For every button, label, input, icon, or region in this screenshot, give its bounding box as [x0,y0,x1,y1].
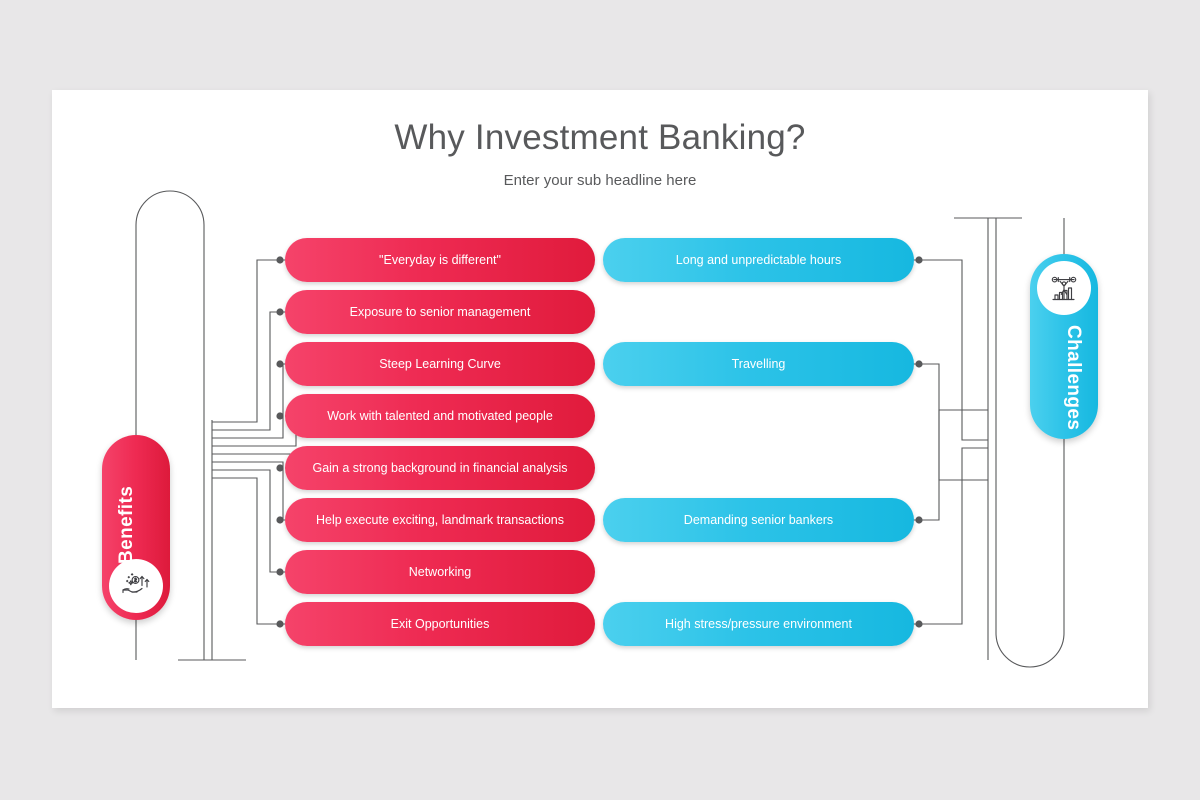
category-label-challenges: Challenges [1021,325,1107,393]
left-branch-3 [212,364,285,438]
connector-dot-left-1 [276,256,283,263]
benefit-pill[interactable]: Exit Opportunities [285,602,595,646]
challenge-pill[interactable]: Travelling [603,342,914,386]
connector-dot-left-8 [276,620,283,627]
connector-dot-right-3 [915,516,922,523]
benefit-pill[interactable]: Gain a strong background in financial an… [285,446,595,490]
right-branch-1 [914,260,988,440]
challenge-pill[interactable]: Demanding senior bankers [603,498,914,542]
benefit-pill[interactable]: "Everyday is different" [285,238,595,282]
benefit-pill[interactable]: Help execute exciting, landmark transact… [285,498,595,542]
page-subtitle: Enter your sub headline here [52,172,1148,189]
connector-dot-left-2 [276,308,283,315]
connector-dot-right-2 [915,360,922,367]
left-branch-5 [212,454,296,468]
left-branch-4 [212,416,296,446]
connector-dot-left-7 [276,568,283,575]
connector-dot-left-5 [276,464,283,471]
right-branch-2 [914,364,988,480]
connector-dot-right-4 [915,620,922,627]
page-title: Why Investment Banking? [52,118,1148,158]
left-branch-6 [212,462,285,520]
connector-dot-left-3 [276,360,283,367]
slide-card: Why Investment Banking? Enter your sub h… [52,90,1148,708]
connector-dot-left-6 [276,516,283,523]
benefit-pill[interactable]: Networking [285,550,595,594]
connector-dot-right-1 [915,256,922,263]
left-branch-1 [212,260,285,422]
challenge-pill[interactable]: Long and unpredictable hours [603,238,914,282]
challenge-pill[interactable]: High stress/pressure environment [603,602,914,646]
left-branch-8 [212,478,285,624]
connector-dot-left-4 [276,412,283,419]
left-branch-7 [212,470,285,572]
weightlifter-on-bar-chart-icon [1037,261,1091,315]
right-branch-4 [914,448,988,624]
category-label-benefits: Benefits [93,496,179,564]
benefit-pill[interactable]: Steep Learning Curve [285,342,595,386]
hand-holding-money-growth-icon [109,559,163,613]
category-pill-benefits[interactable]: Benefits [102,435,170,620]
right-branch-3 [914,410,988,520]
category-pill-challenges[interactable]: Challenges [1030,254,1098,439]
benefit-pill[interactable]: Work with talented and motivated people [285,394,595,438]
benefit-pill[interactable]: Exposure to senior management [285,290,595,334]
left-branch-2 [212,312,285,430]
